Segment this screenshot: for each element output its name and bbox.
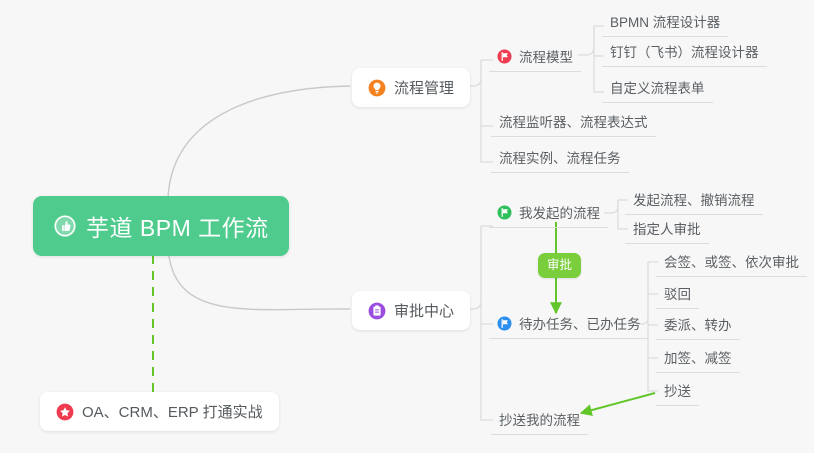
node-start-cancel-process-label: 发起流程、撤销流程	[633, 189, 755, 209]
flag-blue-icon	[497, 316, 512, 331]
link-root-to-process-management	[168, 86, 350, 198]
node-process-model-label: 流程模型	[519, 46, 573, 66]
node-integration-practice[interactable]: OA、CRM、ERP 打通实战	[40, 392, 279, 431]
tag-approval[interactable]: 审批	[538, 253, 581, 278]
node-process-management-label: 流程管理	[394, 77, 454, 98]
node-approval-center-label: 审批中心	[394, 300, 454, 321]
node-reject[interactable]: 驳回	[656, 280, 699, 309]
node-process-listener-expression-label: 流程监听器、流程表达式	[499, 111, 648, 131]
mindmap-canvas: 芋道 BPM 工作流 流程管理 流程模型 BPMN 流程设计器 钉钉（飞书）流程	[0, 0, 814, 453]
node-start-cancel-process[interactable]: 发起流程、撤销流程	[625, 186, 763, 215]
node-dingtalk-feishu-designer-label: 钉钉（飞书）流程设计器	[610, 41, 759, 61]
node-add-remove-sign[interactable]: 加签、减签	[656, 344, 740, 373]
node-custom-process-form[interactable]: 自定义流程表单	[602, 74, 713, 103]
node-process-listener-expression[interactable]: 流程监听器、流程表达式	[491, 108, 656, 137]
root-node[interactable]: 芋道 BPM 工作流	[33, 196, 289, 256]
node-dingtalk-feishu-designer[interactable]: 钉钉（飞书）流程设计器	[602, 38, 767, 67]
arrow-cc-to-ccmine	[581, 393, 655, 413]
node-assignee-approval[interactable]: 指定人审批	[625, 215, 709, 244]
node-custom-process-form-label: 自定义流程表单	[610, 77, 705, 97]
node-integration-practice-label: OA、CRM、ERP 打通实战	[82, 401, 263, 422]
node-carbon-copy-label: 抄送	[664, 380, 691, 400]
node-countersign-orsign-sequential[interactable]: 会签、或签、依次审批	[656, 248, 807, 277]
node-carbon-copy[interactable]: 抄送	[656, 377, 699, 406]
node-add-remove-sign-label: 加签、减签	[664, 347, 732, 367]
node-delegate-transfer-label: 委派、转办	[664, 314, 732, 334]
node-cc-my-process[interactable]: 抄送我的流程	[491, 406, 588, 435]
node-process-instance-task[interactable]: 流程实例、流程任务	[491, 144, 629, 173]
star-icon	[56, 403, 74, 421]
node-approval-center[interactable]: 审批中心	[352, 291, 470, 330]
node-my-initiated-process-label: 我发起的流程	[519, 202, 600, 222]
thumbs-up-icon	[53, 214, 77, 238]
clipboard-icon	[368, 302, 386, 320]
node-process-instance-task-label: 流程实例、流程任务	[499, 147, 621, 167]
node-todo-done-task[interactable]: 待办任务、已办任务	[489, 310, 649, 339]
flag-red-icon	[497, 49, 512, 64]
node-reject-label: 驳回	[664, 283, 691, 303]
lightbulb-icon	[368, 79, 386, 97]
node-process-management[interactable]: 流程管理	[352, 68, 470, 107]
node-delegate-transfer[interactable]: 委派、转办	[656, 311, 740, 340]
node-process-model[interactable]: 流程模型	[489, 43, 581, 72]
root-label: 芋道 BPM 工作流	[86, 209, 269, 243]
node-bpmn-designer-label: BPMN 流程设计器	[610, 11, 720, 31]
node-my-initiated-process[interactable]: 我发起的流程	[489, 199, 608, 228]
flag-green-icon	[497, 205, 512, 220]
node-bpmn-designer[interactable]: BPMN 流程设计器	[602, 8, 728, 37]
node-assignee-approval-label: 指定人审批	[633, 218, 701, 238]
node-cc-my-process-label: 抄送我的流程	[499, 409, 580, 429]
node-todo-done-task-label: 待办任务、已办任务	[519, 313, 641, 333]
node-countersign-orsign-sequential-label: 会签、或签、依次审批	[664, 251, 799, 271]
